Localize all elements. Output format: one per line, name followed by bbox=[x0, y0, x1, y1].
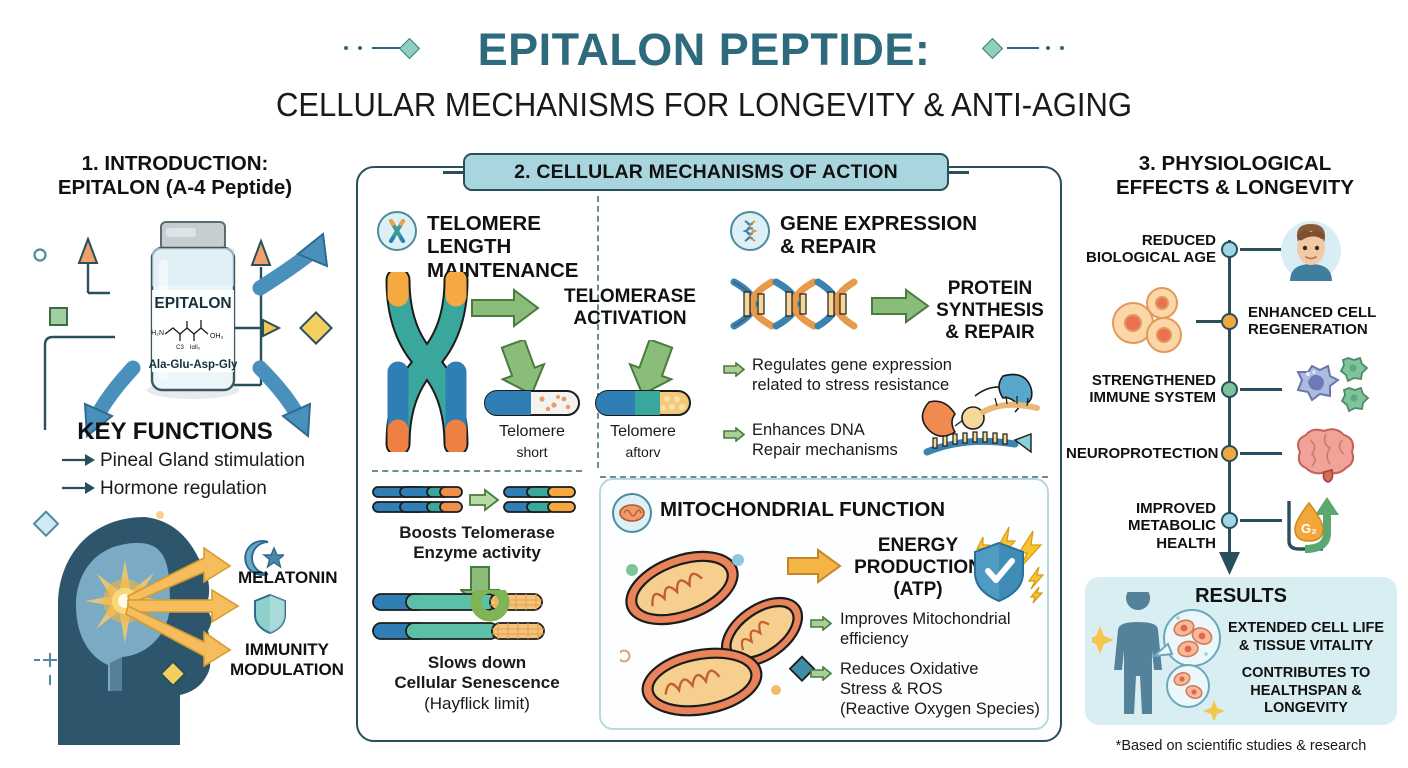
dna-icon bbox=[730, 211, 770, 251]
immunity-line1: IMMUNITY bbox=[222, 640, 352, 660]
cells-icon bbox=[1108, 287, 1186, 357]
telomerase-boost-illustration bbox=[372, 485, 577, 517]
slows-line1: Slows down bbox=[370, 653, 584, 673]
timeline-label-3: STRENGTHENED IMMUNE SYSTEM bbox=[1086, 372, 1216, 407]
title-deco-left bbox=[340, 0, 440, 80]
mitochondria-icon bbox=[612, 493, 652, 533]
mito-section-title: MITOCHONDRIAL FUNCTION bbox=[660, 498, 990, 521]
gene-bullet-arrow-2 bbox=[723, 427, 745, 442]
telomerase-arrow-right bbox=[470, 288, 540, 328]
results-cell-bubble-2 bbox=[1167, 665, 1209, 707]
telomere-title-line1: TELOMERE LENGTH bbox=[427, 212, 607, 259]
gene-bullet-2: Enhances DNA Repair mechanisms bbox=[752, 421, 912, 460]
timeline-stub-2 bbox=[1196, 320, 1222, 323]
page-subtitle: CELLULAR MECHANISMS FOR LONGEVITY & ANTI… bbox=[42, 86, 1366, 124]
glucose-label: G₂ bbox=[1301, 521, 1317, 536]
chromosome-icon bbox=[377, 211, 417, 251]
timeline-stub-5 bbox=[1240, 519, 1282, 522]
physio-heading-line2: EFFECTS & LONGEVITY bbox=[1070, 176, 1400, 200]
shield-icon bbox=[253, 593, 287, 635]
key-function-1: Pineal Gland stimulation bbox=[100, 450, 305, 472]
timeline-label-5: IMPROVED METABOLIC HEALTH bbox=[1086, 500, 1216, 552]
senescence-label: Slows down Cellular Senescence (Hayflick… bbox=[370, 653, 584, 714]
timeline-arrowhead-icon bbox=[1219, 552, 1240, 576]
timeline-label-3-line1: STRENGTHENED bbox=[1086, 372, 1216, 389]
timeline-stub-1 bbox=[1240, 248, 1282, 251]
timeline-node-4 bbox=[1221, 445, 1238, 462]
chromosome-illustration bbox=[382, 272, 472, 452]
timeline-node-1 bbox=[1221, 241, 1238, 258]
timeline-stub-4 bbox=[1240, 452, 1282, 455]
person-face-icon bbox=[1280, 220, 1342, 282]
protein-line3: & REPAIR bbox=[930, 322, 1050, 344]
badge-stub-left bbox=[443, 171, 465, 174]
brain-icon bbox=[1288, 426, 1360, 484]
page-title: EPITALON PEPTIDE: bbox=[0, 24, 1408, 76]
mito-bullet-2: Reduces Oxidative Stress & ROS bbox=[840, 660, 1010, 699]
immune-cells-icon bbox=[1286, 356, 1370, 418]
physiological-heading: 3. PHYSIOLOGICAL EFFECTS & LONGEVITY bbox=[1070, 152, 1400, 200]
telomerase-activation-label: TELOMERASE ACTIVATION bbox=[540, 286, 720, 330]
protein-synthesis-label: PROTEIN SYNTHESIS & REPAIR bbox=[930, 278, 1050, 344]
boost-telomerase-label: Boosts Telomerase Enzyme activity bbox=[370, 523, 584, 564]
timeline-label-1-line1: REDUCED bbox=[1086, 232, 1216, 249]
gene-title-line2: & REPAIR bbox=[780, 235, 990, 258]
intro-heading-line1: 1. INTRODUCTION: bbox=[10, 152, 340, 176]
vial-label: EPITALON bbox=[154, 295, 231, 312]
timeline-node-5 bbox=[1221, 512, 1238, 529]
telomerase-line1: TELOMERASE bbox=[540, 286, 720, 308]
timeline-label-5-line3: HEALTH bbox=[1086, 535, 1216, 552]
telomere-short-sub: short bbox=[477, 444, 587, 461]
timeline-label-5-line1: IMPROVED bbox=[1086, 500, 1216, 517]
center-panel-badge: 2. CELLULAR MECHANISMS OF ACTION bbox=[463, 153, 949, 191]
key-function-arrow-1 bbox=[62, 452, 96, 468]
results-line-b: CONTRIBUTES TO HEALTHSPAN & LONGEVITY bbox=[1210, 665, 1402, 718]
timeline-label-2: ENHANCED CELL REGENERATION bbox=[1248, 304, 1400, 339]
energy-shield-icon bbox=[955, 525, 1045, 605]
protein-line1: PROTEIN bbox=[930, 278, 1050, 300]
mito-bullet-1: Improves Mitochondrial efficiency bbox=[840, 610, 1030, 649]
boost-line1: Boosts Telomerase bbox=[370, 523, 584, 543]
svg-text:H₂N: H₂N bbox=[151, 330, 164, 337]
telomere-short-illustration bbox=[484, 390, 580, 416]
immunity-line2: MODULATION bbox=[222, 660, 352, 680]
slows-line2: Cellular Senescence bbox=[370, 673, 584, 693]
svg-text:OH₃: OH₃ bbox=[210, 333, 224, 340]
immunity-modulation-label: IMMUNITY MODULATION bbox=[222, 640, 352, 681]
timeline-node-2 bbox=[1221, 313, 1238, 330]
senescence-telomere-illustration bbox=[372, 590, 577, 648]
intro-heading: 1. INTRODUCTION: EPITALON (A-4 Peptide) bbox=[10, 152, 340, 200]
gene-section-title: GENE EXPRESSION & REPAIR bbox=[780, 212, 990, 259]
results-a1: EXTENDED CELL LIFE bbox=[1210, 620, 1402, 638]
key-function-arrow-2 bbox=[62, 480, 96, 496]
results-b2: HEALTHSPAN & bbox=[1210, 683, 1402, 701]
timeline-label-5-line2: METABOLIC bbox=[1086, 517, 1216, 534]
results-b1: CONTRIBUTES TO bbox=[1210, 665, 1402, 683]
timeline-label-2-line2: REGENERATION bbox=[1248, 321, 1400, 338]
results-line-a: EXTENDED CELL LIFE & TISSUE VITALITY bbox=[1210, 620, 1402, 655]
telomere-after-sub: aftorv bbox=[588, 444, 698, 461]
gene-title-line1: GENE EXPRESSION bbox=[780, 212, 990, 235]
melatonin-label: MELATONIN bbox=[238, 568, 337, 588]
energy-production-arrow bbox=[786, 548, 842, 584]
timeline-label-4: NEUROPROTECTION bbox=[1066, 445, 1216, 462]
intro-heading-line2: EPITALON (A-4 Peptide) bbox=[10, 176, 340, 200]
timeline-label-1-line2: BIOLOGICAL AGE bbox=[1086, 249, 1216, 266]
center-horizontal-divider-left bbox=[372, 470, 582, 472]
mito-bullet-arrow-2 bbox=[810, 666, 832, 681]
protein-synthesis-arrow bbox=[870, 288, 930, 324]
results-a2: & TISSUE VITALITY bbox=[1210, 638, 1402, 656]
telomere-short-label: Telomere bbox=[477, 422, 587, 441]
results-b3: LONGEVITY bbox=[1210, 700, 1402, 718]
svg-text:C3: C3 bbox=[176, 345, 184, 351]
vial-sequence: Ala-Glu-Asp-Gly bbox=[149, 359, 238, 371]
badge-stub-right bbox=[947, 171, 969, 174]
telomere-after-illustration bbox=[595, 390, 691, 416]
timeline-label-1: REDUCED BIOLOGICAL AGE bbox=[1086, 232, 1216, 267]
dna-helix-illustration bbox=[728, 278, 858, 330]
svg-text:Ιαll₃: Ιαll₃ bbox=[190, 345, 201, 351]
mito-bullet-arrow-1 bbox=[810, 616, 832, 631]
slows-line3: (Hayflick limit) bbox=[370, 694, 584, 714]
rna-protein-illustration bbox=[915, 368, 1045, 468]
gene-bullet-arrow-1 bbox=[723, 362, 745, 377]
telomere-after-label: Telomere bbox=[588, 422, 698, 441]
key-functions-title: KEY FUNCTIONS bbox=[10, 418, 340, 446]
sparkle-icon bbox=[34, 653, 57, 685]
timeline-node-3 bbox=[1221, 381, 1238, 398]
mito-bullet-note: (Reactive Oxygen Species) bbox=[840, 700, 1070, 720]
glucose-drop-icon: G₂ bbox=[1283, 497, 1355, 555]
epitalon-vial: EPITALON H₂N OH₃ C3 Ιαll₃ Ala-Glu-Asp-Gl… bbox=[133, 218, 253, 403]
timeline-label-3-line2: IMMUNE SYSTEM bbox=[1086, 389, 1216, 406]
physio-heading-line1: 3. PHYSIOLOGICAL bbox=[1070, 152, 1400, 176]
timeline-stub-3 bbox=[1240, 388, 1282, 391]
protein-line2: SYNTHESIS bbox=[930, 300, 1050, 322]
timeline-label-2-line1: ENHANCED CELL bbox=[1248, 304, 1400, 321]
title-deco-right bbox=[980, 0, 1090, 80]
boost-line2: Enzyme activity bbox=[370, 543, 584, 563]
key-function-2: Hormone regulation bbox=[100, 478, 267, 500]
footnote: *Based on scientific studies & research bbox=[1085, 738, 1397, 754]
telomerase-line2: ACTIVATION bbox=[540, 308, 720, 330]
